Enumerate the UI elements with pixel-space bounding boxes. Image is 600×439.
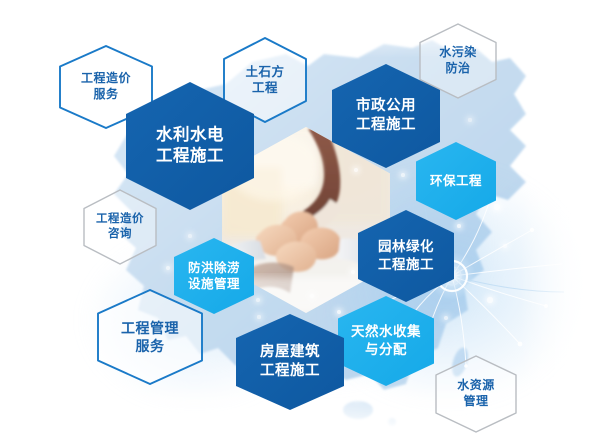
bokeh-dot bbox=[351, 270, 355, 274]
bokeh-dot bbox=[457, 224, 461, 228]
hexagon-natural-water-collection[interactable]: 天然水收集 与分配 bbox=[338, 296, 434, 386]
hexagon-label: 工程造价 服务 bbox=[81, 71, 131, 102]
hexagon-environmental-engineering[interactable]: 环保工程 bbox=[416, 142, 496, 220]
hexagon-label: 市政公用 工程施工 bbox=[356, 97, 416, 135]
hexagon-label: 工程管理 服务 bbox=[121, 319, 179, 355]
hexagon-label: 园林绿化 工程施工 bbox=[378, 238, 434, 273]
bokeh-dot bbox=[503, 244, 507, 248]
hexagon-label: 水资源 管理 bbox=[457, 378, 495, 409]
hexagon-building-construction[interactable]: 房屋建筑 工程施工 bbox=[236, 314, 344, 410]
hexagon-landscaping-construction[interactable]: 园林绿化 工程施工 bbox=[358, 210, 454, 302]
bokeh-dot bbox=[256, 298, 260, 302]
infographic-canvas: 工程造价 服务土石方 工程水污染 防治水利水电 工程施工市政公用 工程施工环保工… bbox=[0, 0, 600, 439]
bokeh-dot bbox=[444, 316, 448, 320]
hexagon-water-resource-management[interactable]: 水资源 管理 bbox=[436, 356, 516, 432]
hexagon-label: 工程造价 咨询 bbox=[96, 212, 144, 242]
hexagon-engineering-management[interactable]: 工程管理 服务 bbox=[98, 290, 202, 384]
hexagon-label: 天然水收集 与分配 bbox=[351, 323, 421, 358]
hexagon-label: 防洪除涝 设施管理 bbox=[188, 260, 240, 293]
hexagon-label: 水利水电 工程施工 bbox=[156, 125, 224, 168]
bokeh-dot bbox=[310, 294, 314, 298]
bokeh-dot bbox=[468, 118, 471, 121]
hexagon-engineering-cost-consulting[interactable]: 工程造价 咨询 bbox=[84, 190, 156, 264]
hexagon-label: 环保工程 bbox=[430, 173, 482, 189]
bokeh-dot bbox=[356, 396, 360, 400]
hexagon-label: 房屋建筑 工程施工 bbox=[260, 343, 320, 381]
hexagon-label: 水污染 防治 bbox=[439, 45, 477, 76]
bokeh-dot bbox=[354, 168, 358, 172]
bokeh-dot bbox=[401, 173, 405, 177]
bokeh-dot bbox=[487, 297, 492, 302]
hexagon-label: 土石方 工程 bbox=[245, 64, 284, 97]
bokeh-dot bbox=[166, 266, 170, 270]
